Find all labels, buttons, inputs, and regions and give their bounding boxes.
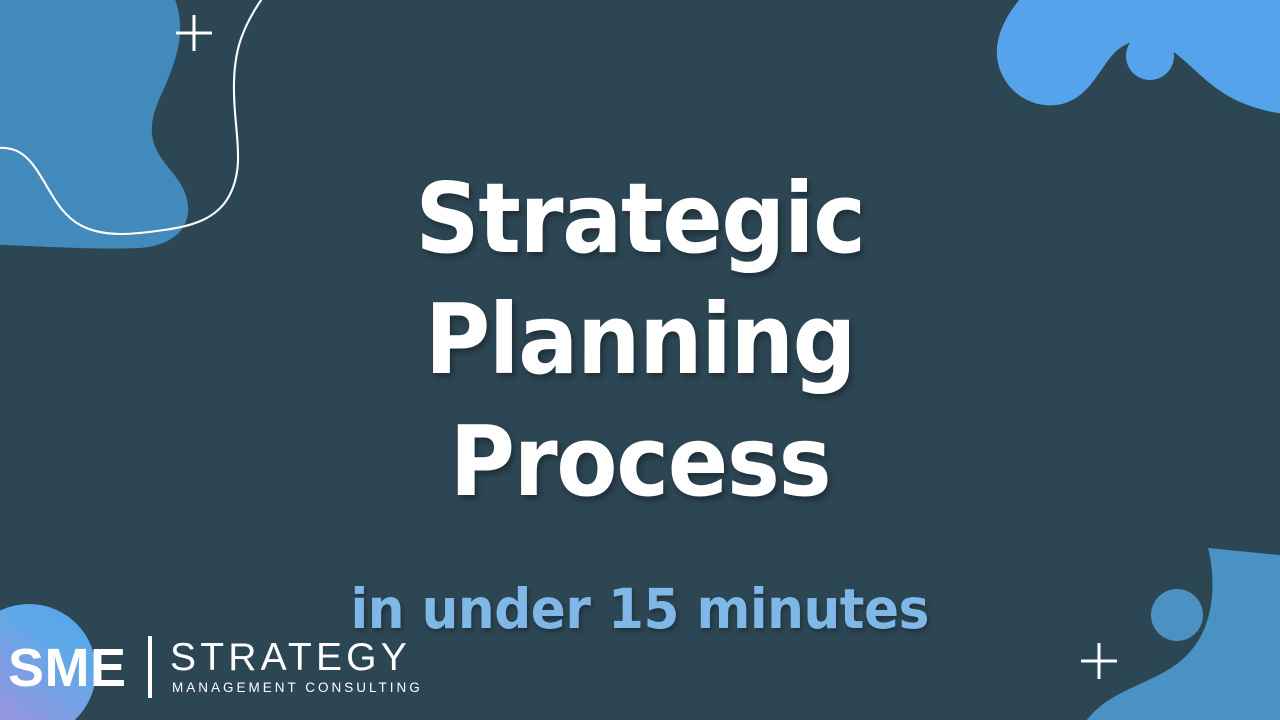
logo-divider [148, 636, 152, 698]
page-title: Strategic Planning Process [198, 158, 1081, 522]
title-slide: Strategic Planning Process in under 15 m… [0, 0, 1280, 720]
logo-badge: SME [0, 618, 138, 714]
brand-logo: SME STRATEGY MANAGEMENT CONSULTING [0, 618, 423, 714]
logo-name-text: STRATEGY [170, 638, 423, 678]
logo-tagline-text: MANAGEMENT CONSULTING [170, 680, 423, 696]
title-block: Strategic Planning Process in under 15 m… [0, 0, 1280, 720]
logo-wordmark: STRATEGY MANAGEMENT CONSULTING [170, 638, 423, 697]
page-subtitle: in under 15 minutes [351, 578, 929, 641]
logo-mark-text: SME [0, 641, 127, 695]
